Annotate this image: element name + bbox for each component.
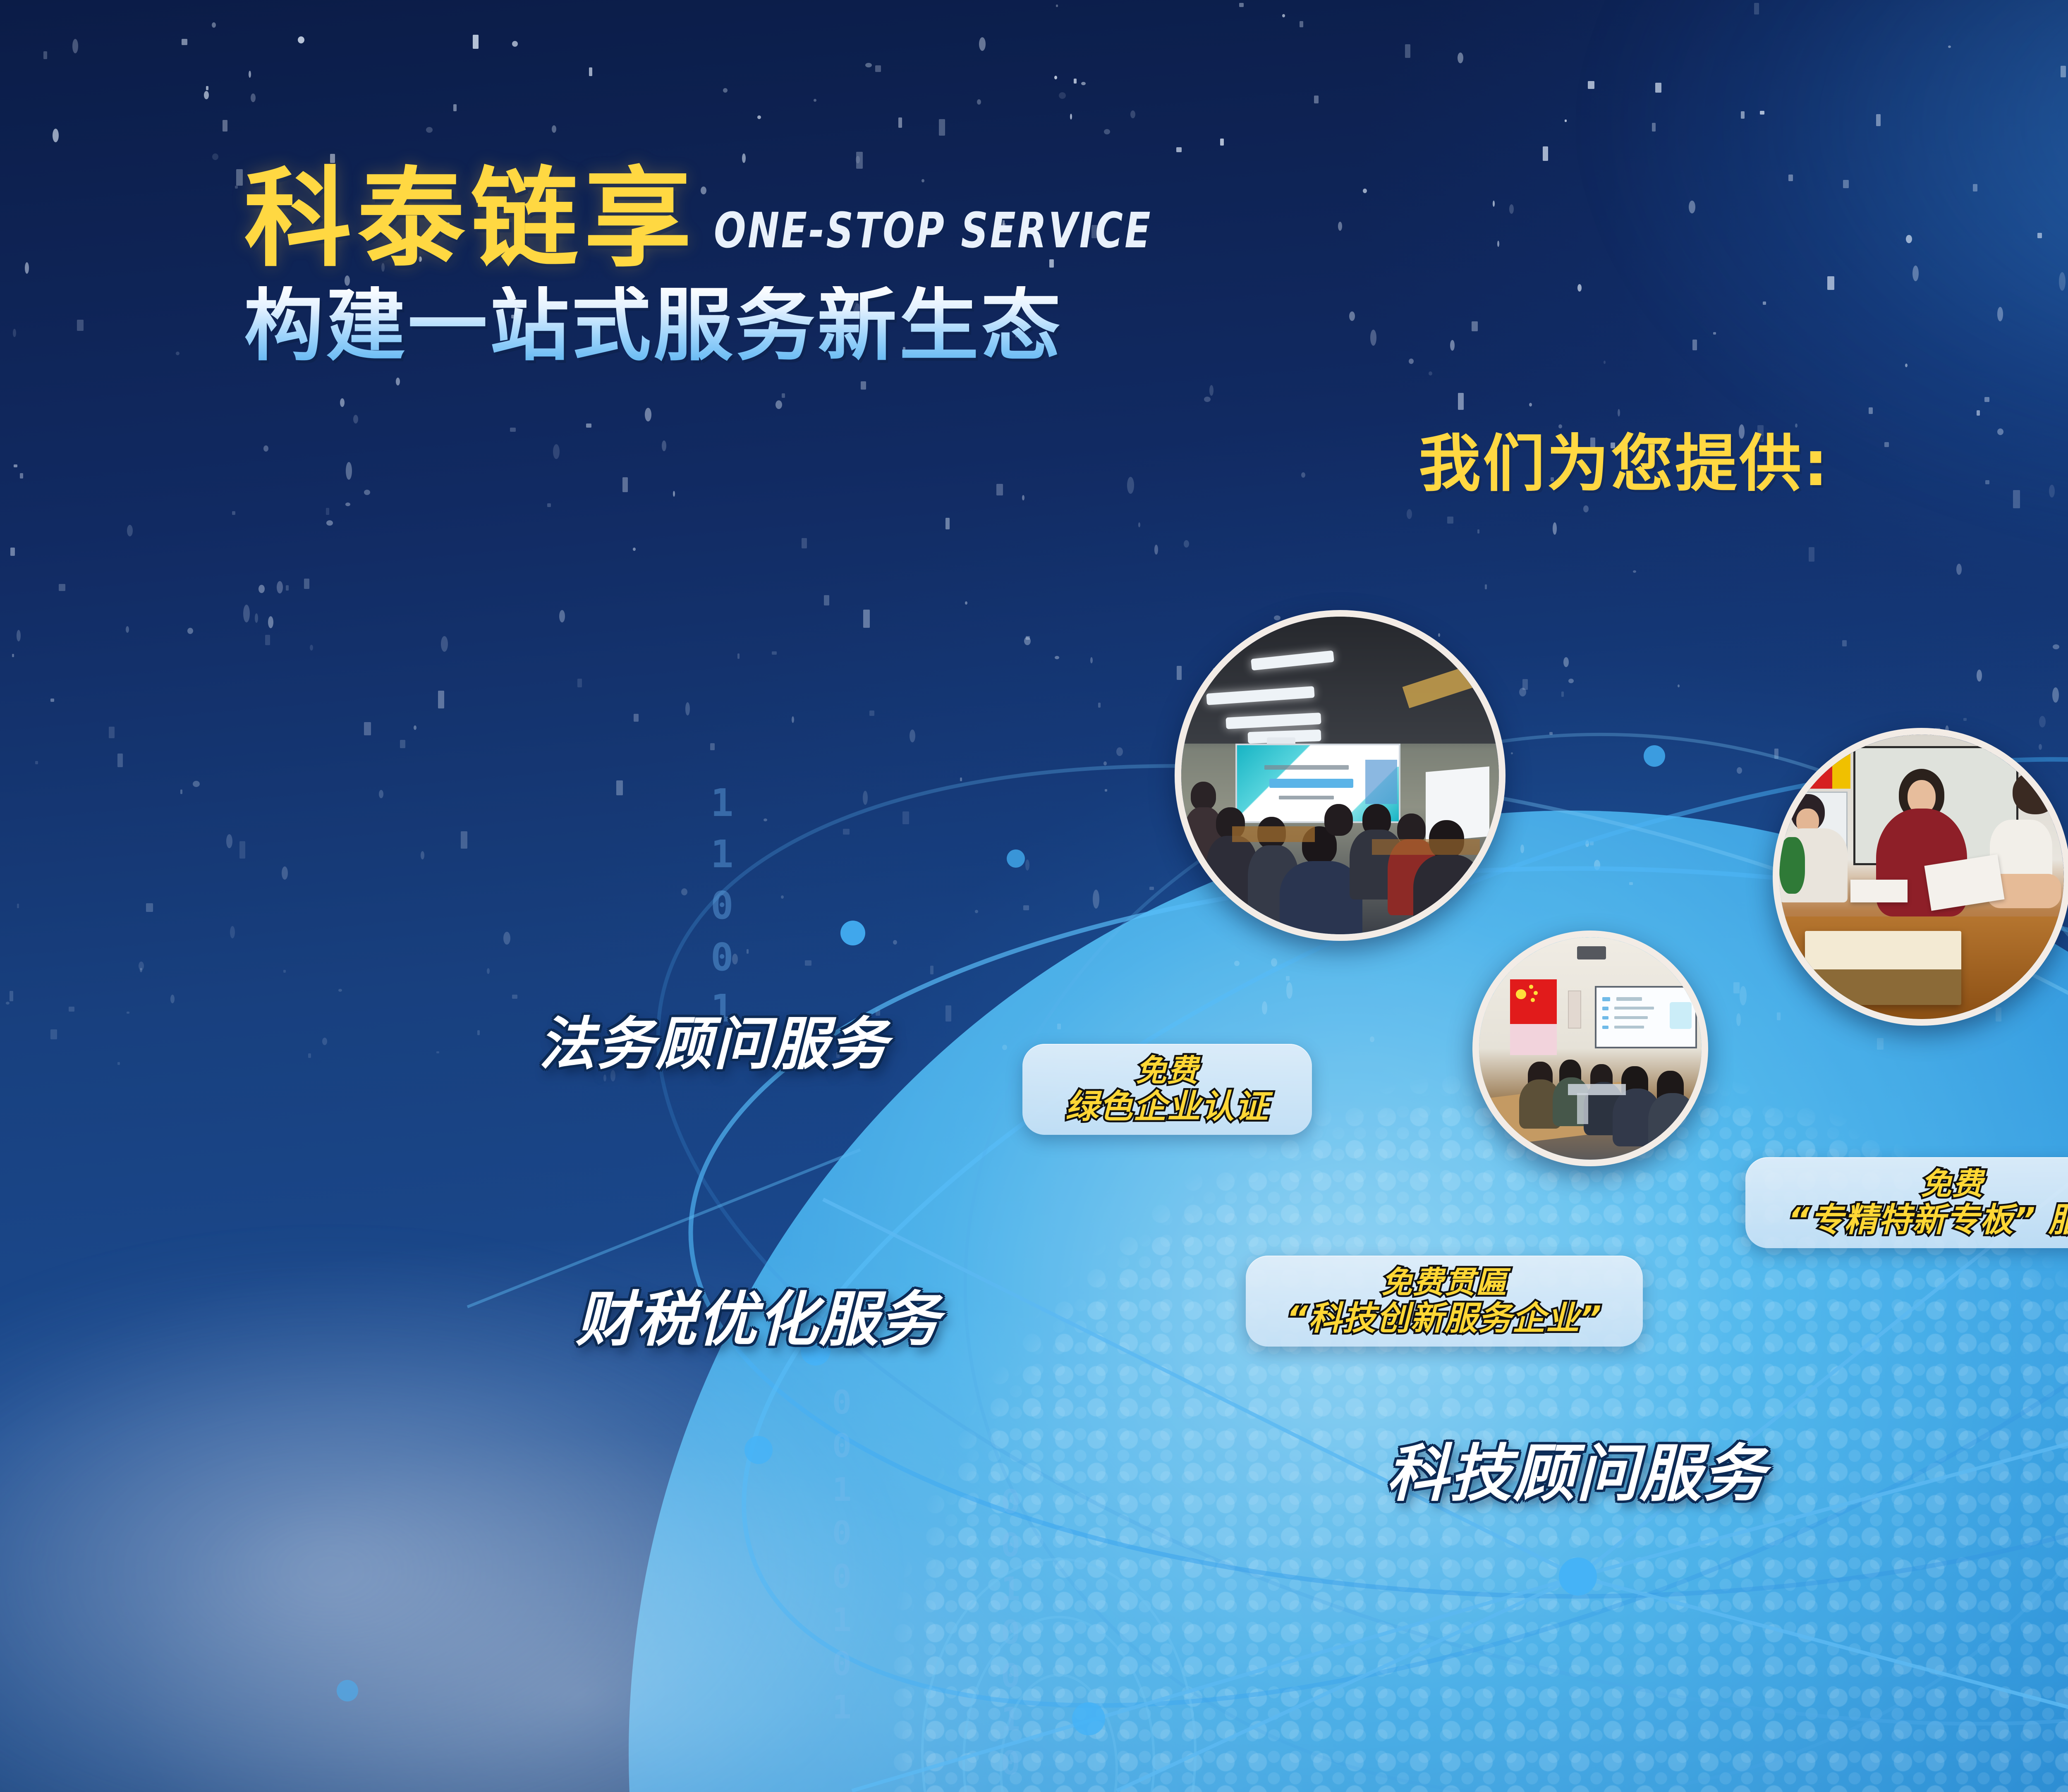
we-provide-heading: 我们为您提供: bbox=[1419, 414, 1830, 503]
service-label-legal[interactable]: 法务顾问服务 bbox=[539, 998, 888, 1080]
badge-line-1: 免费 bbox=[1136, 1054, 1199, 1088]
badge-line-2: “科技创新服务企业” bbox=[1286, 1300, 1602, 1337]
photo-seminar-auditorium bbox=[1175, 610, 1506, 941]
binary-column-center: 00100101 bbox=[832, 1381, 852, 1730]
headline-block: 科泰链享 ONE-STOP SERVICE 构建一站式服务新生态 bbox=[244, 165, 1223, 366]
service-label-tech-advisory[interactable]: 科技顾问服务 bbox=[1386, 1424, 1766, 1513]
binary-column-left: 11001 bbox=[711, 778, 733, 1034]
brand-subtitle-en: ONE-STOP SERVICE bbox=[714, 202, 1152, 259]
brand-title: 科泰链享 bbox=[244, 165, 697, 273]
badge-line-2: “专精特新专板” 服务 bbox=[1788, 1201, 2068, 1239]
badge-line-2: 绿色企业认证 bbox=[1065, 1088, 1269, 1125]
badge-green-enterprise[interactable]: 免费 绿色企业认证 bbox=[1022, 1044, 1312, 1135]
banner-root: 11001 00100101 00100101 11001 科泰链享 ONE-S… bbox=[0, 0, 2068, 1792]
binary-column-center-2: 00100101 bbox=[1001, 1481, 1020, 1792]
badge-line-1: 免费贯匾 bbox=[1381, 1266, 1507, 1300]
badge-tech-innovation-enterprise[interactable]: 免费贯匾 “科技创新服务企业” bbox=[1246, 1256, 1643, 1347]
service-label-tax[interactable]: 财税优化服务 bbox=[576, 1271, 941, 1357]
photo-document-consultation bbox=[1773, 728, 2068, 1026]
badge-line-1: 免费 bbox=[1921, 1167, 1984, 1201]
badge-specialized-new-board[interactable]: 免费 “专精特新专板” 服务 bbox=[1745, 1157, 2068, 1248]
page-subtitle: 构建一站式服务新生态 bbox=[244, 286, 1223, 366]
photo-classroom-presentation bbox=[1472, 931, 1708, 1166]
